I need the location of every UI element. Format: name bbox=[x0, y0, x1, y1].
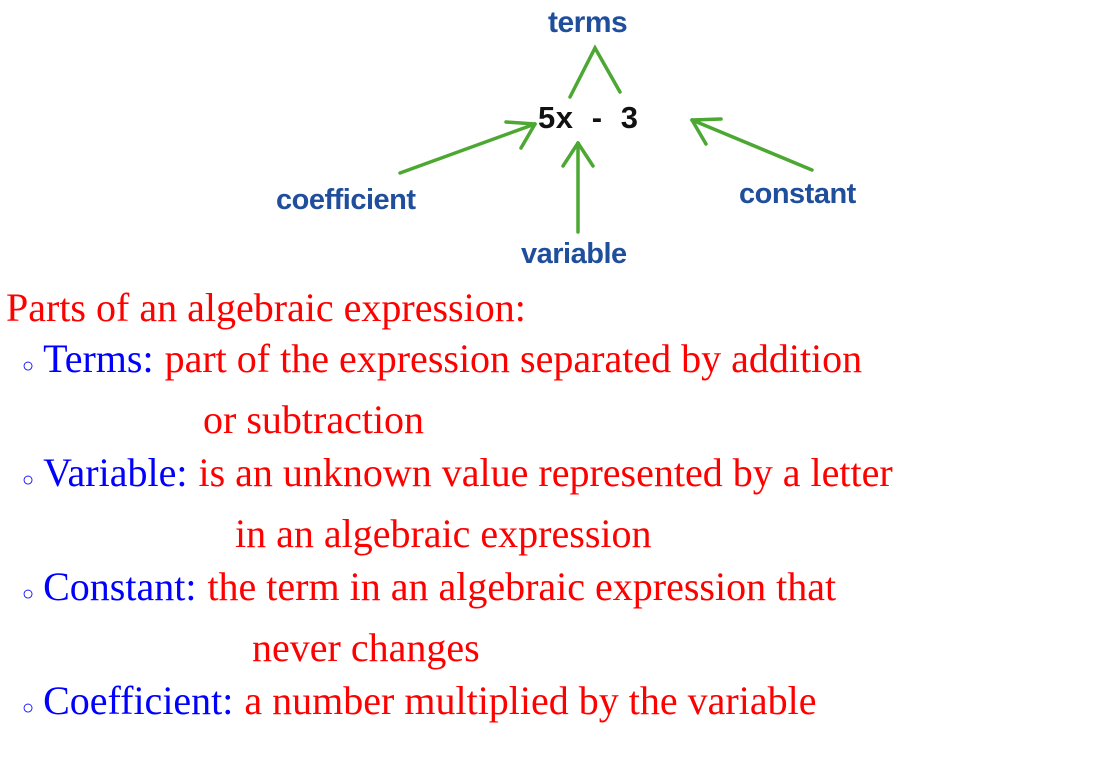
list-item: ○ Constant: the term in an algebraic exp… bbox=[0, 560, 1109, 621]
coefficient-arrow-icon bbox=[400, 122, 535, 173]
circle-bullet-icon: ○ bbox=[22, 340, 34, 393]
list-item: ○ Terms: part of the expression separate… bbox=[0, 332, 1109, 393]
constant-arrow-icon bbox=[692, 119, 812, 170]
diagram-label-coefficient: coefficient bbox=[276, 184, 416, 217]
diagram-label-constant: constant bbox=[739, 178, 856, 211]
list-item-continuation: never changes bbox=[0, 621, 1109, 674]
diagram-label-variable: variable bbox=[521, 238, 627, 271]
diagram-label-terms: terms bbox=[548, 6, 627, 40]
definitions-list: Parts of an algebraic expression: ○ Term… bbox=[0, 283, 1109, 735]
terms-connector-icon bbox=[570, 48, 620, 97]
list-item-definition: part of the expression separated by addi… bbox=[165, 332, 863, 385]
list-item-definition: is an unknown value represented by a let… bbox=[198, 446, 892, 499]
list-item-continuation: in an algebraic expression bbox=[0, 507, 1109, 560]
list-item-term: Terms: bbox=[43, 332, 154, 385]
list-item-definition: the term in an algebraic expression that bbox=[207, 560, 836, 613]
list-item: ○ Variable: is an unknown value represen… bbox=[0, 446, 1109, 507]
list-item-term: Variable: bbox=[43, 446, 187, 499]
list-item: ○ Coefficient: a number multiplied by th… bbox=[0, 674, 1109, 735]
algebraic-expression-diagram: terms 5x - 3 coefficient constant variab… bbox=[0, 0, 1109, 285]
algebraic-expression: 5x - 3 bbox=[538, 100, 639, 136]
circle-bullet-icon: ○ bbox=[22, 568, 34, 621]
circle-bullet-icon: ○ bbox=[22, 682, 34, 735]
variable-arrow-icon bbox=[563, 143, 593, 232]
list-item-definition: a number multiplied by the variable bbox=[244, 674, 816, 727]
list-item-term: Coefficient: bbox=[43, 674, 233, 727]
page-title: Parts of an algebraic expression: bbox=[0, 283, 1109, 332]
list-item-continuation: or subtraction bbox=[0, 393, 1109, 446]
list-item-term: Constant: bbox=[43, 560, 196, 613]
circle-bullet-icon: ○ bbox=[22, 454, 34, 507]
